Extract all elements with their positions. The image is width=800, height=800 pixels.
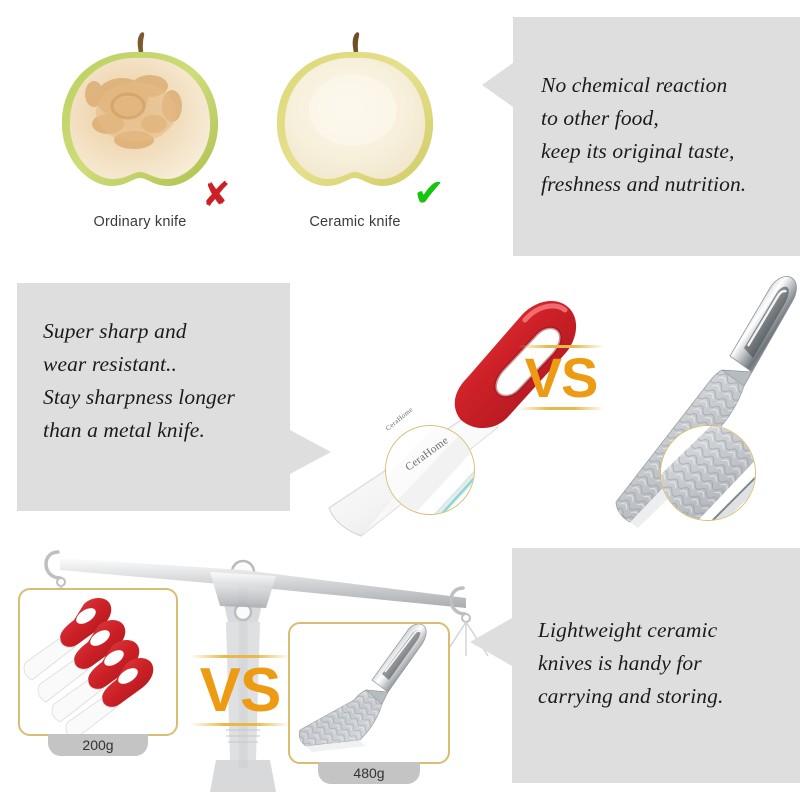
ceramic-knife-label: Ceramic knife — [265, 214, 445, 230]
callout-panel-lightweight: Lightweight ceramic knives is handy for … — [512, 548, 800, 783]
left-pan-weight-value: 200g — [82, 737, 113, 753]
callout-text-middle: Super sharp and wear resistant.. Stay sh… — [43, 315, 293, 447]
ceramic-blade-zoom-image — [386, 426, 475, 515]
damascus-blade-magnifier — [660, 425, 756, 521]
apple-fresh-image — [265, 28, 445, 193]
right-pan-weight-value: 480g — [353, 765, 384, 781]
damascus-blade-zoom-image — [661, 426, 756, 521]
red-cross-mark: ✘ — [202, 178, 231, 212]
callout-panel-no-chemical-reaction: No chemical reaction to other food, keep… — [513, 17, 800, 256]
callout-text-top: No chemical reaction to other food, keep… — [541, 69, 791, 201]
green-check-mark: ✔ — [413, 174, 445, 212]
apple-browned-image — [50, 28, 230, 193]
left-pan-weight-label: 200g — [48, 734, 148, 756]
ceramic-knife-set-image — [20, 590, 176, 734]
callout-text-bottom: Lightweight ceramic knives is handy for … — [538, 614, 792, 713]
left-pan-product-box — [18, 588, 178, 736]
damascus-knife-small-image — [290, 624, 448, 762]
callout-panel-super-sharp: Super sharp and wear resistant.. Stay sh… — [17, 283, 290, 511]
vs-label-bottom: VS — [190, 660, 290, 722]
infographic-page: ✘ Ordinary knife ✔ Ceram — [0, 0, 800, 800]
right-pan-weight-label: 480g — [318, 762, 420, 784]
vs-badge-bottom: VS — [190, 655, 290, 726]
callout-notch-left-bottom — [470, 618, 512, 666]
ordinary-knife-apple-figure: ✘ Ordinary knife — [50, 28, 230, 228]
right-pan-product-box — [288, 622, 450, 764]
ceramic-blade-magnifier — [385, 425, 475, 515]
vs-badge-middle: VS — [518, 345, 604, 410]
ceramic-knife-apple-figure: ✔ Ceramic knife — [265, 28, 445, 228]
callout-notch-left — [482, 63, 513, 107]
ordinary-knife-label: Ordinary knife — [50, 214, 230, 230]
vs-label-middle: VS — [518, 350, 604, 406]
